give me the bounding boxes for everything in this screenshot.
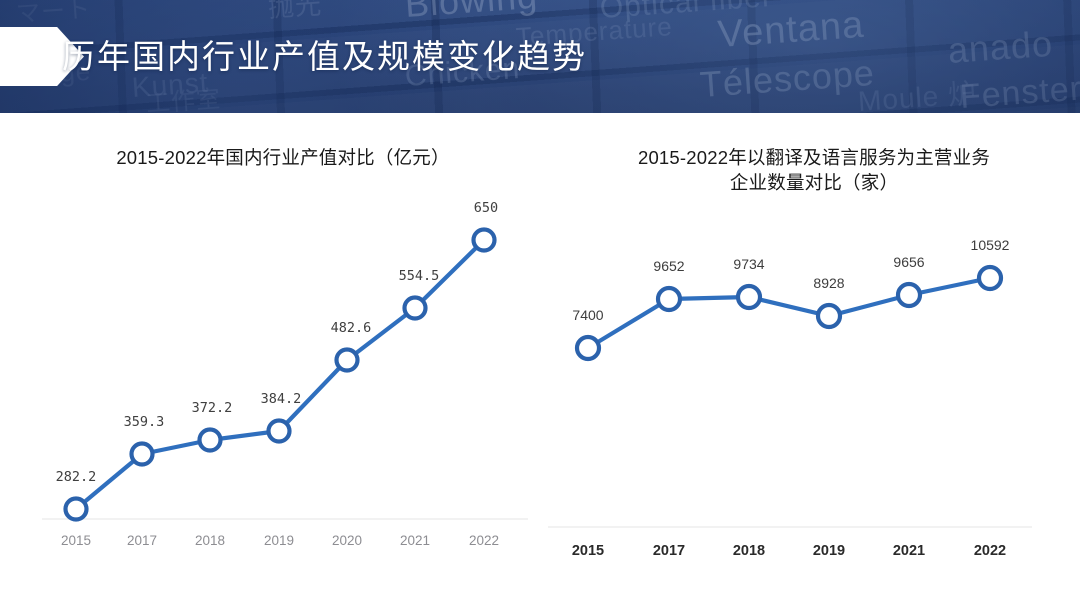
x-axis-label: 2021	[400, 533, 430, 548]
data-label: 7400	[572, 307, 603, 323]
data-label: 650	[474, 200, 498, 216]
x-axis-label: 2017	[653, 543, 685, 559]
data-label: 482.6	[331, 320, 372, 336]
data-point-marker[interactable]	[337, 350, 358, 371]
data-label: 384.2	[261, 391, 302, 407]
x-axis-label: 2021	[893, 543, 925, 559]
data-label: 10592	[971, 237, 1010, 253]
x-axis-label: 2022	[469, 533, 499, 548]
x-axis-label: 2019	[813, 543, 845, 559]
data-point-marker[interactable]	[818, 305, 840, 327]
x-axis-label: 2017	[127, 533, 157, 548]
data-point-marker[interactable]	[269, 421, 290, 442]
data-label: 9652	[653, 258, 684, 274]
data-label: 282.2	[56, 469, 97, 485]
x-axis-label: 2020	[332, 533, 362, 548]
series-line-company-count	[588, 278, 990, 348]
data-point-marker[interactable]	[66, 499, 87, 520]
x-axis-label: 2018	[733, 543, 765, 559]
chart-domestic-output-value: 2015-2022年国内行业产值对比（亿元） 282.2 359.3 372.2…	[18, 113, 548, 606]
x-axis-label: 2015	[572, 543, 604, 559]
slide: Blowing Ventana anado Télescope Fenster …	[0, 0, 1080, 606]
data-point-marker[interactable]	[898, 284, 920, 306]
slide-header: Blowing Ventana anado Télescope Fenster …	[0, 0, 1080, 113]
data-point-marker[interactable]	[577, 337, 599, 359]
data-point-marker[interactable]	[474, 230, 495, 251]
data-point-marker[interactable]	[200, 430, 221, 451]
data-label: 359.3	[124, 414, 165, 430]
line-chart-svg-left: 282.2 359.3 372.2 384.2 482.6 554.5 650 …	[18, 113, 548, 606]
line-chart-svg-right: 7400 9652 9734 8928 9656 10592 2015 2017…	[548, 113, 1080, 606]
data-point-marker[interactable]	[132, 444, 153, 465]
chart-translation-company-count: 2015-2022年以翻译及语言服务为主营业务 企业数量对比（家） 7400 9…	[548, 113, 1080, 606]
data-label: 9734	[733, 256, 764, 272]
x-axis-label: 2018	[195, 533, 225, 548]
x-axis-label: 2022	[974, 543, 1006, 559]
data-label: 9656	[893, 254, 924, 270]
data-label: 8928	[813, 275, 844, 291]
data-point-marker[interactable]	[979, 267, 1001, 289]
page-title: 历年国内行业产值及规模变化趋势	[62, 30, 587, 83]
chart-plot-right: 7400 9652 9734 8928 9656 10592 2015 2017…	[548, 113, 1080, 606]
x-axis-label: 2015	[61, 533, 91, 548]
data-point-marker[interactable]	[405, 298, 426, 319]
data-point-marker[interactable]	[738, 286, 760, 308]
data-label: 554.5	[399, 268, 440, 284]
data-point-marker[interactable]	[658, 288, 680, 310]
chart-plot-left: 282.2 359.3 372.2 384.2 482.6 554.5 650 …	[18, 113, 548, 606]
data-label: 372.2	[192, 400, 233, 416]
x-axis-label: 2019	[264, 533, 294, 548]
